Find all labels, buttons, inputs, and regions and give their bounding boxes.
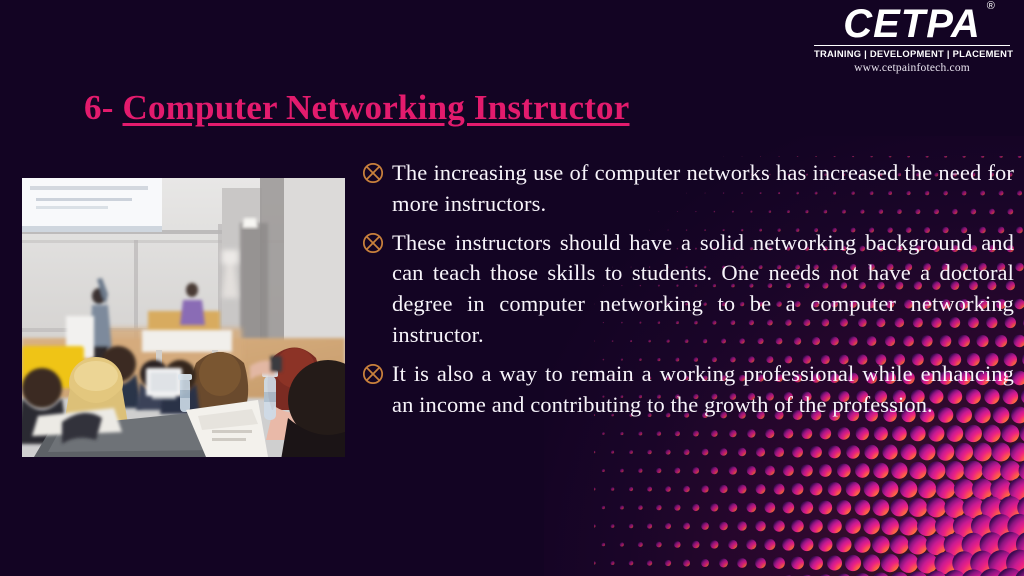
list-item: It is also a way to remain a working pro… <box>362 359 1014 421</box>
registered-trademark-icon: ® <box>987 1 996 12</box>
logo-website: www.cetpainfotech.com <box>814 62 1010 74</box>
logo-brand-label: CETPA <box>843 2 981 46</box>
circled-x-icon <box>362 363 392 390</box>
list-item-text: The increasing use of computer networks … <box>392 158 1014 220</box>
logo-brand-text: CETPA ® <box>841 4 983 44</box>
lecture-hall-photo <box>22 178 345 457</box>
logo-tagline: TRAINING | DEVELOPMENT | PLACEMENT <box>814 45 1010 59</box>
slide-canvas: CETPA ® TRAINING | DEVELOPMENT | PLACEME… <box>0 0 1024 576</box>
circled-x-icon <box>362 162 392 189</box>
list-item-text: It is also a way to remain a working pro… <box>392 359 1014 421</box>
page-title: 6- Computer Networking Instructor <box>84 88 630 128</box>
title-heading: Computer Networking Instructor <box>123 88 630 127</box>
list-item: These instructors should have a solid ne… <box>362 228 1014 351</box>
bullet-list: The increasing use of computer networks … <box>362 158 1014 429</box>
list-item-text: These instructors should have a solid ne… <box>392 228 1014 351</box>
cetpa-logo: CETPA ® TRAINING | DEVELOPMENT | PLACEME… <box>814 4 1010 74</box>
title-number: 6- <box>84 88 123 127</box>
list-item: The increasing use of computer networks … <box>362 158 1014 220</box>
circled-x-icon <box>362 232 392 259</box>
